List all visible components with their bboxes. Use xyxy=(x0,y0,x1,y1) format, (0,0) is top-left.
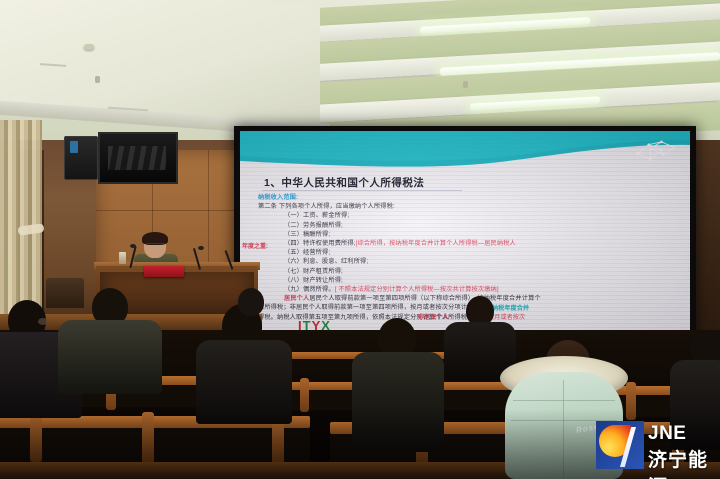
projection-screen: 1、中华人民共和国个人所得税法 纳税收入范围: 第二条 下列各项个人所得，应当缴… xyxy=(240,131,690,339)
slide-line-6: （六）利息、股息、红利所得; xyxy=(284,258,368,265)
bench-post xyxy=(300,378,309,412)
network-diamond-icon xyxy=(634,139,678,165)
slide-header-band xyxy=(240,131,690,173)
slide-bold-term-2: 非居民个人 xyxy=(418,312,449,321)
slide-bold-term-1: 居民个人 xyxy=(284,295,309,302)
slide-line-8: （八）财产转让所得; xyxy=(284,277,343,284)
wall-speaker-left xyxy=(64,136,98,180)
curtain xyxy=(0,120,42,320)
slide-title-rule xyxy=(262,190,462,191)
slide-red-inline-2: [ 不照本法规定分别计算个人所得税—按次共计算按次缴纳] xyxy=(335,286,499,293)
watermark-logo: JNE 济宁能源 xyxy=(596,419,714,473)
name-placard xyxy=(144,266,184,277)
slide-paragraph-1: 居民个人取得前款第一项至第四项所得（以下称综合所得），按纳税年度合并计算个 xyxy=(309,295,540,302)
slide-red-inline-1: [综合所得，按纳税年度合并计算个人所得税—居民纳税人 xyxy=(356,240,516,247)
microphone-head-left xyxy=(130,244,136,248)
bench-post xyxy=(626,382,636,420)
slide-line-2: （二）劳务报酬所得; xyxy=(284,222,343,229)
water-glass xyxy=(119,252,126,264)
watermark-brand-en: JNE xyxy=(648,423,686,445)
bench-post xyxy=(142,412,154,464)
slide-line-4: （四）特许权使用费所得; xyxy=(284,240,356,247)
microphone-head-right xyxy=(198,246,204,250)
photo-scene: 1、中华人民共和国个人所得税法 纳税收入范围: 第二条 下列各项个人所得，应当缴… xyxy=(0,0,720,479)
smoke-detector-icon xyxy=(84,44,94,50)
slide-margin-note: 年度之重: xyxy=(242,241,268,250)
slide-section-heading: 纳税收入范围: xyxy=(258,193,682,202)
slide-paragraph-2: 人所得税；非居民个人取得前款第一项至第四项所得，按月或者按次分项计算个人所 xyxy=(258,304,493,311)
slide-line-7: （七）财产租赁所得; xyxy=(284,268,343,275)
slide-line-0: 第二条 下列各项个人所得，应当缴纳个人所得税: xyxy=(258,203,395,210)
slide-line-9: （九）偶然所得。 xyxy=(284,286,335,293)
slide-line-1: （一）工资、薪金所得; xyxy=(284,212,349,219)
ceiling-sprinkler-icon xyxy=(95,76,100,83)
wall-monitor xyxy=(98,132,178,184)
slide-teal-term: 纳税年度合并 xyxy=(492,303,529,312)
watermark-brand-cn: 济宁能源 xyxy=(648,445,714,479)
presenter-glasses xyxy=(146,243,164,248)
slide-line-5: （五）经营所得; xyxy=(284,249,330,256)
slide-title: 1、中华人民共和国个人所得税法 xyxy=(264,175,424,190)
slide-line-3: （三）稿酬所得; xyxy=(284,231,330,238)
jne-mark-icon xyxy=(596,421,644,469)
ceiling-sprinkler-icon-2 xyxy=(463,81,468,88)
empty-chair xyxy=(46,278,84,308)
